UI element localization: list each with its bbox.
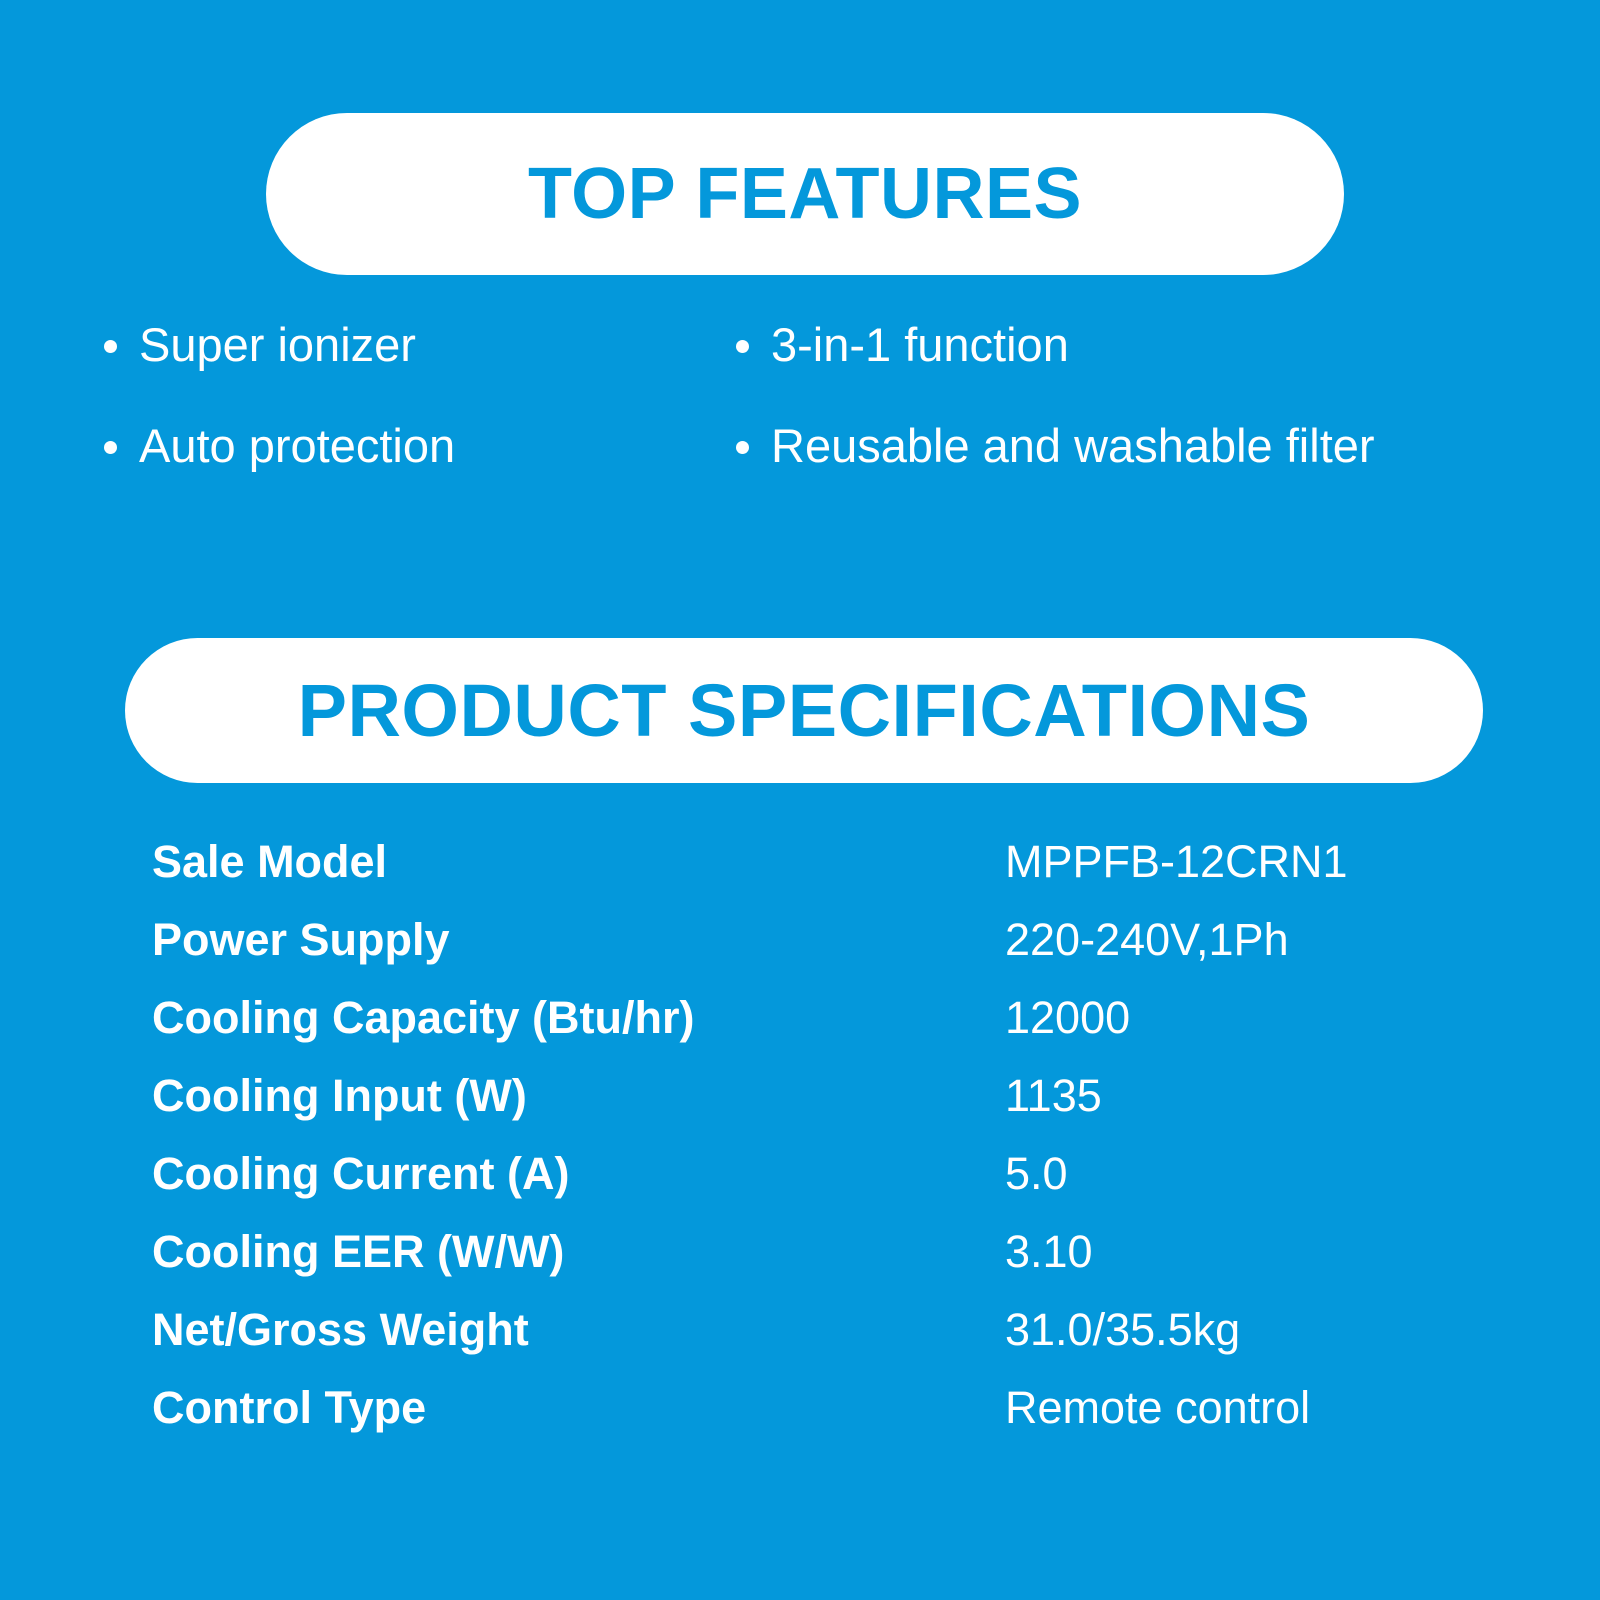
list-item: 3-in-1 function (736, 316, 1460, 375)
spec-value: 5.0 (1005, 1148, 1068, 1200)
feature-label: 3-in-1 function (771, 316, 1460, 375)
table-row: Cooling EER (W/W) 3.10 (152, 1226, 1492, 1304)
bullet-icon (104, 441, 117, 454)
top-features-heading-text: TOP FEATURES (528, 153, 1082, 235)
spec-label: Net/Gross Weight (152, 1304, 1005, 1356)
specifications-table: Sale Model MPPFB-12CRN1 Power Supply 220… (152, 836, 1492, 1460)
spec-label: Control Type (152, 1382, 1005, 1434)
table-row: Cooling Current (A) 5.0 (152, 1148, 1492, 1226)
spec-value: 3.10 (1005, 1226, 1093, 1278)
spec-value: 1135 (1005, 1070, 1102, 1122)
spec-value: 12000 (1005, 992, 1130, 1044)
table-row: Net/Gross Weight 31.0/35.5kg (152, 1304, 1492, 1382)
table-row: Sale Model MPPFB-12CRN1 (152, 836, 1492, 914)
top-features-heading-pill: TOP FEATURES (266, 113, 1344, 275)
list-item: Super ionizer (104, 316, 720, 375)
top-features-list: Super ionizer Auto protection 3-in-1 fun… (0, 316, 1600, 518)
spec-label: Power Supply (152, 914, 1005, 966)
feature-label: Reusable and washable filter (771, 417, 1460, 476)
spec-label: Cooling EER (W/W) (152, 1226, 1005, 1278)
bullet-icon (736, 441, 749, 454)
features-column-right: 3-in-1 function Reusable and washable fi… (720, 316, 1460, 518)
table-row: Cooling Input (W) 1135 (152, 1070, 1492, 1148)
features-column-left: Super ionizer Auto protection (0, 316, 720, 518)
spec-label: Sale Model (152, 836, 1005, 888)
spec-label: Cooling Capacity (Btu/hr) (152, 992, 1005, 1044)
table-row: Control Type Remote control (152, 1382, 1492, 1460)
bullet-icon (736, 340, 749, 353)
feature-label: Super ionizer (139, 316, 720, 375)
product-info-page: TOP FEATURES Super ionizer Auto protecti… (0, 0, 1600, 1600)
spec-value: MPPFB-12CRN1 (1005, 836, 1348, 888)
spec-label: Cooling Current (A) (152, 1148, 1005, 1200)
bullet-icon (104, 340, 117, 353)
spec-value: Remote control (1005, 1382, 1310, 1434)
product-specifications-heading-pill: PRODUCT SPECIFICATIONS (125, 638, 1483, 783)
feature-label: Auto protection (139, 417, 720, 476)
list-item: Auto protection (104, 417, 720, 476)
spec-value: 31.0/35.5kg (1005, 1304, 1240, 1356)
list-item: Reusable and washable filter (736, 417, 1460, 476)
table-row: Power Supply 220-240V,1Ph (152, 914, 1492, 992)
spec-value: 220-240V,1Ph (1005, 914, 1289, 966)
product-specifications-heading-text: PRODUCT SPECIFICATIONS (298, 668, 1311, 753)
spec-label: Cooling Input (W) (152, 1070, 1005, 1122)
table-row: Cooling Capacity (Btu/hr) 12000 (152, 992, 1492, 1070)
